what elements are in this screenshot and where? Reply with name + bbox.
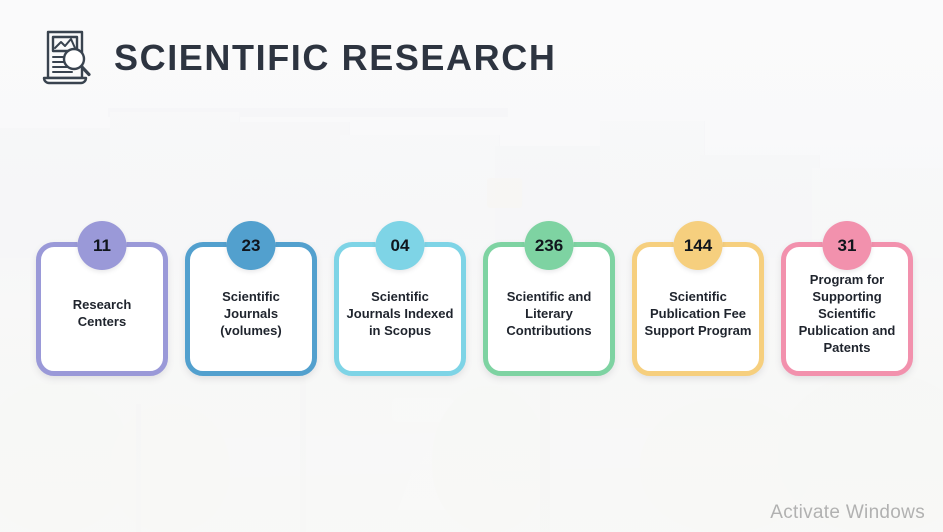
stat-card-label: Scientific Publication Fee Support Progr… — [637, 288, 759, 339]
stat-card-label: Scientific Journals Indexed in Scopus — [339, 288, 461, 339]
stat-card-scientific-journals[interactable]: 23 Scientific Journals (volumes) — [185, 242, 317, 376]
stat-badge: 31 — [823, 221, 872, 270]
stat-card-scientific-literary-contributions[interactable]: 236 Scientific and Literary Contribution… — [483, 242, 615, 376]
slide-canvas: SCIENTIFIC RESEARCH 11 Research Centers … — [0, 0, 943, 532]
stat-badge: 23 — [227, 221, 276, 270]
page-header: SCIENTIFIC RESEARCH — [38, 26, 556, 90]
stat-card-label: Scientific Journals (volumes) — [190, 288, 312, 339]
stat-badge: 236 — [525, 221, 574, 270]
document-chart-magnifier-icon — [38, 26, 96, 90]
stat-card-research-centers[interactable]: 11 Research Centers — [36, 242, 168, 376]
stat-badge: 11 — [78, 221, 127, 270]
stat-badge: 144 — [674, 221, 723, 270]
stat-card-label: Scientific and Literary Contributions — [488, 288, 610, 339]
stat-badge: 04 — [376, 221, 425, 270]
stat-card-publication-fee-support[interactable]: 144 Scientific Publication Fee Support P… — [632, 242, 764, 376]
stat-card-label: Program for Supporting Scientific Public… — [786, 271, 908, 356]
activate-windows-watermark: Activate Windows — [770, 502, 925, 524]
stat-card-publication-patents-support[interactable]: 31 Program for Supporting Scientific Pub… — [781, 242, 913, 376]
stat-card-label: Research Centers — [41, 296, 163, 330]
stat-card-journals-indexed-scopus[interactable]: 04 Scientific Journals Indexed in Scopus — [334, 242, 466, 376]
stat-card-row: 11 Research Centers 23 Scientific Journa… — [0, 222, 943, 382]
page-title: SCIENTIFIC RESEARCH — [114, 37, 556, 79]
